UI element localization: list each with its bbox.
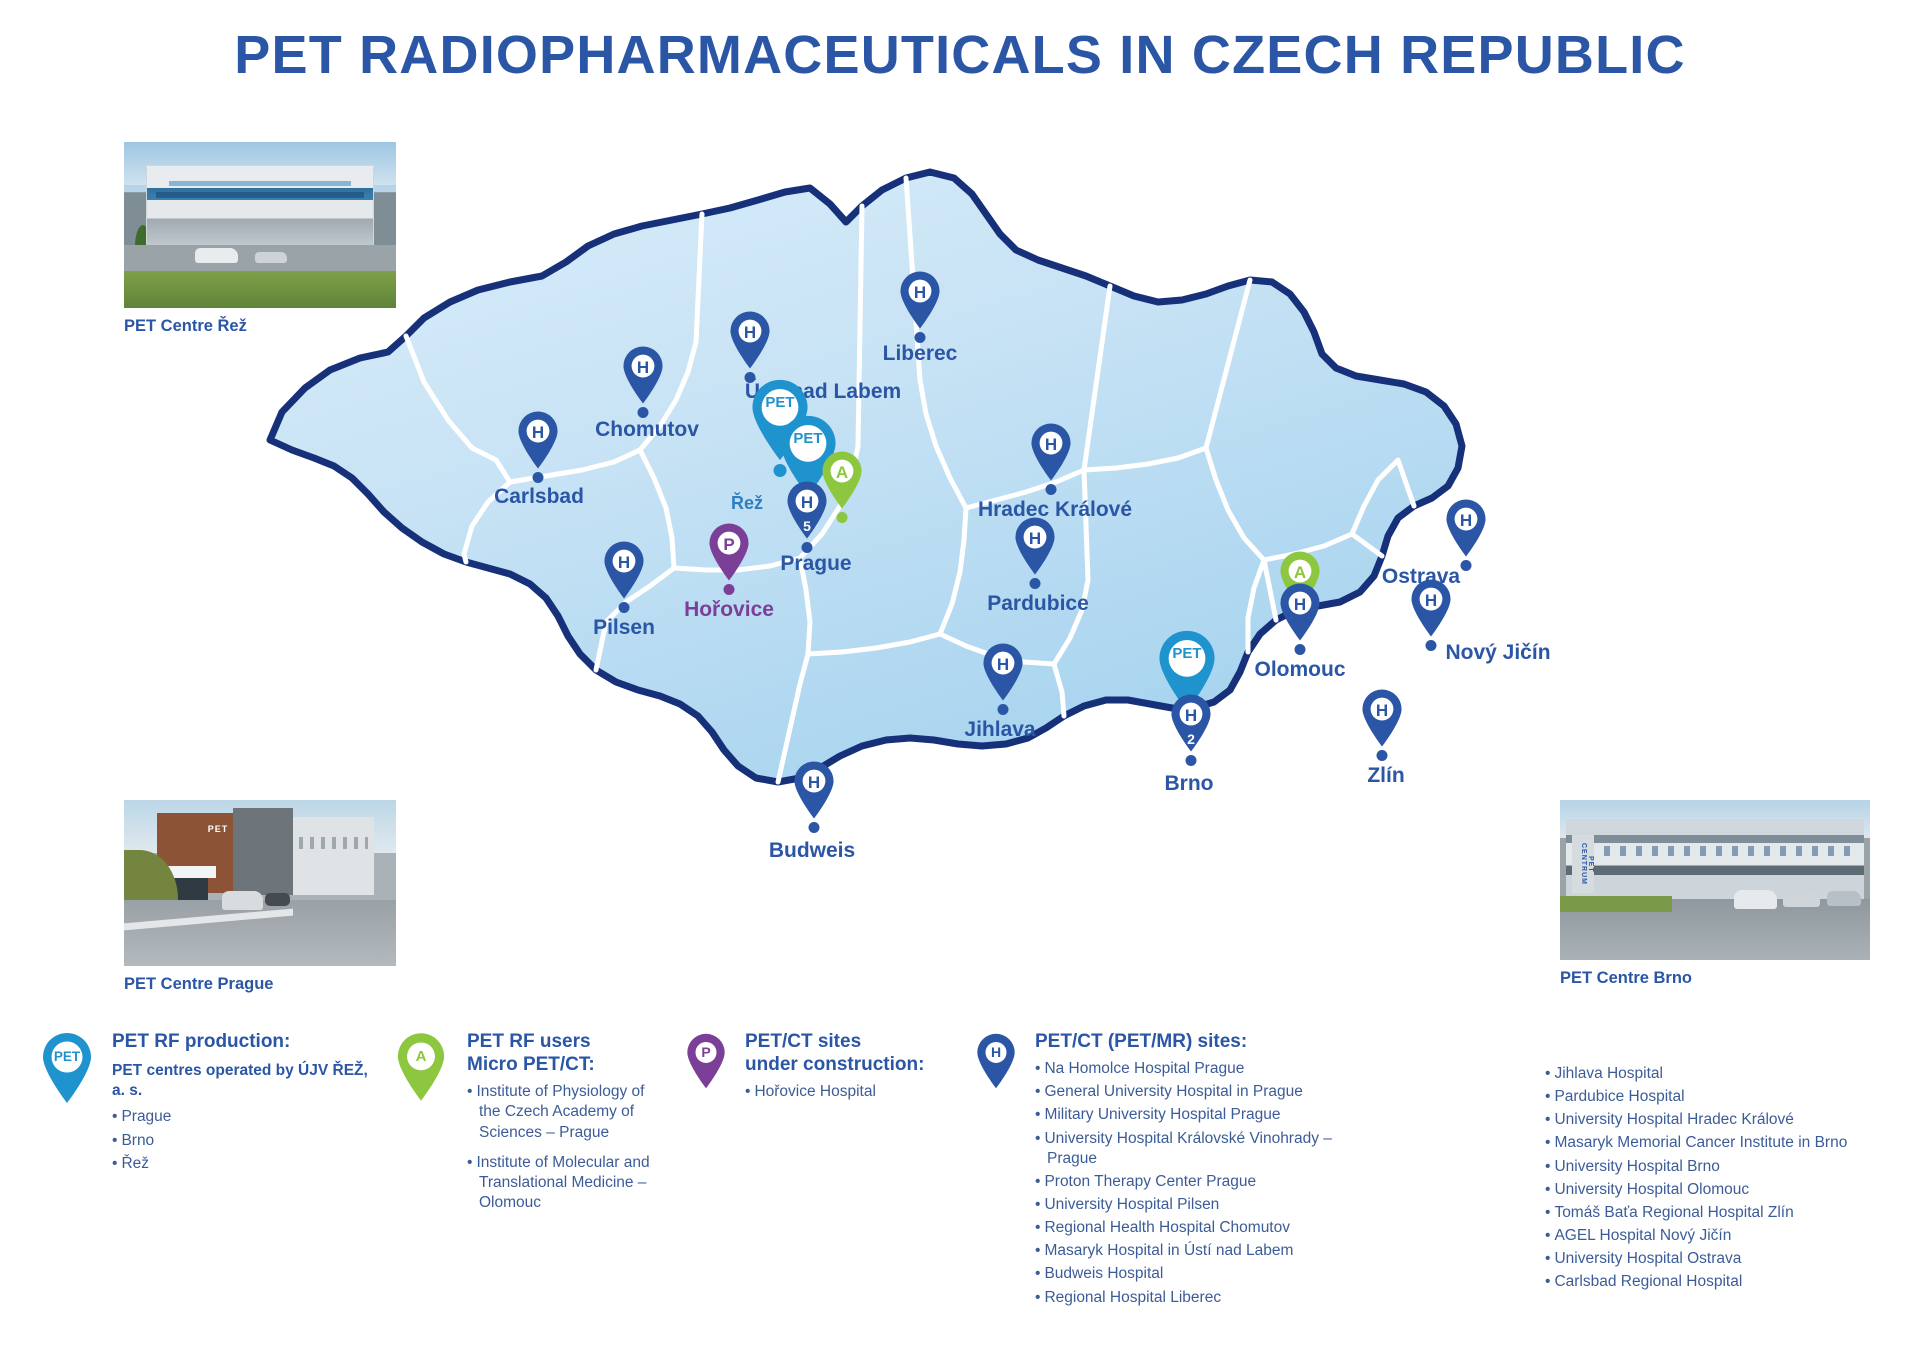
- list-item-label: Hořovice Hospital: [754, 1083, 875, 1100]
- list-item: •Jihlava Hospital: [1545, 1064, 1875, 1084]
- list-item: •General University Hospital in Prague: [1035, 1082, 1365, 1102]
- list-item-label: University Hospital Hradec Králové: [1554, 1111, 1793, 1128]
- city-label-pilsen: Pilsen: [593, 616, 655, 640]
- legend-pin-p: P: [685, 1032, 727, 1095]
- map-marker-h-icon[interactable]: H: [516, 410, 560, 470]
- list-item-label: Proton Therapy Center Prague: [1044, 1173, 1256, 1190]
- legend-pin-h-label: H: [975, 1044, 1017, 1060]
- legend-construction-list: •Hořovice Hospital: [745, 1082, 975, 1102]
- list-item-label: Institute of Molecular and Translational…: [476, 1154, 649, 1211]
- list-item-label: Military University Hospital Prague: [1044, 1106, 1280, 1123]
- legend-pin-a-label: A: [395, 1048, 447, 1065]
- legend-pin-pet-label: PET: [40, 1049, 94, 1064]
- list-item-label: Řež: [121, 1155, 149, 1172]
- list-item-label: Carlsbad Regional Hospital: [1554, 1273, 1742, 1290]
- map-marker-h-icon[interactable]: H: [1444, 498, 1488, 558]
- map-marker-h-icon[interactable]: H2: [1169, 693, 1213, 753]
- list-item: •University Hospital Brno: [1545, 1157, 1875, 1177]
- map-marker-dot: [802, 542, 813, 553]
- map-marker-dot: [1295, 644, 1306, 655]
- legend-micro-list: •Institute of Physiology of the Czech Ac…: [467, 1082, 685, 1213]
- list-item: •Proton Therapy Center Prague: [1035, 1172, 1365, 1192]
- legend-pin-pet: PET: [40, 1032, 94, 1109]
- legend-micro-title-2: Micro PET/CT:: [467, 1053, 685, 1076]
- city-label-olomouc: Olomouc: [1254, 658, 1345, 682]
- legend-sites-list-1: •Na Homolce Hospital Prague•General Univ…: [1035, 1059, 1535, 1308]
- city-label-brno: Brno: [1165, 772, 1214, 796]
- list-item: •Military University Hospital Prague: [1035, 1105, 1365, 1125]
- map-marker-h-icon[interactable]: H: [602, 540, 646, 600]
- map-marker-h-icon[interactable]: H: [981, 642, 1025, 702]
- page-title: PET RADIOPHARMACEUTICALS IN CZECH REPUBL…: [0, 24, 1920, 86]
- legend-production-subtitle: PET centres operated by ÚJV ŘEŽ, a. s.: [112, 1061, 370, 1101]
- map-marker-h-icon[interactable]: H: [728, 310, 772, 370]
- list-item-label: Masaryk Memorial Cancer Institute in Brn…: [1554, 1134, 1847, 1151]
- list-item-label: Brno: [121, 1132, 154, 1149]
- list-item-label: University Hospital Pilsen: [1044, 1196, 1219, 1213]
- list-item: •Brno: [112, 1131, 370, 1151]
- list-item: •University Hospital Hradec Králové: [1545, 1110, 1875, 1130]
- map-marker-dot: [1461, 560, 1472, 571]
- map-marker-dot: [1186, 755, 1197, 766]
- photo-caption-prague: PET Centre Prague: [124, 975, 396, 994]
- map-marker-h-icon[interactable]: H: [792, 760, 836, 820]
- legend-pin-a: A: [395, 1032, 447, 1107]
- map-marker-h-icon[interactable]: H: [1013, 516, 1057, 576]
- map-marker-dot: [998, 704, 1009, 715]
- map-marker-h-icon[interactable]: H: [1360, 688, 1404, 748]
- map-marker-dot: [638, 407, 649, 418]
- list-item: •Prague: [112, 1107, 370, 1127]
- map-marker-dot: [533, 472, 544, 483]
- legend-micro-title-1: PET RF users: [467, 1030, 685, 1053]
- map-marker-p-icon[interactable]: P: [707, 522, 751, 582]
- map-marker-dot: [619, 602, 630, 613]
- legend-sites-title: PET/CT (PET/MR) sites:: [1035, 1030, 1535, 1053]
- legend-production: PET PET RF production: PET centres opera…: [40, 1030, 370, 1177]
- list-item: •University Hospital Pilsen: [1035, 1195, 1365, 1215]
- list-item: •University Hospital Ostrava: [1545, 1249, 1875, 1269]
- map-marker-dot: [809, 822, 820, 833]
- map-marker-dot: [1426, 640, 1437, 651]
- legend-micro-petct: A PET RF users Micro PET/CT: •Institute …: [395, 1030, 685, 1216]
- map-marker-dot: [915, 332, 926, 343]
- map-outline: [270, 172, 1462, 782]
- list-item: •Na Homolce Hospital Prague: [1035, 1059, 1365, 1079]
- list-item-label: Tomáš Baťa Regional Hospital Zlín: [1554, 1204, 1793, 1221]
- city-label-horovice: Hořovice: [684, 598, 774, 622]
- list-item-label: Pardubice Hospital: [1554, 1088, 1684, 1105]
- list-item-label: Budweis Hospital: [1044, 1265, 1163, 1282]
- city-label-jihlava: Jihlava: [964, 718, 1035, 742]
- legend-sites-list-2: •Jihlava Hospital•Pardubice Hospital•Uni…: [1545, 1064, 1920, 1292]
- list-item: •Pardubice Hospital: [1545, 1087, 1875, 1107]
- list-item-label: Prague: [121, 1108, 171, 1125]
- map-marker-h-icon[interactable]: H: [1278, 582, 1322, 642]
- map-marker-dot: [837, 512, 848, 523]
- city-label-novy-jicin: Nový Jičín: [1445, 641, 1550, 665]
- list-item: •Masaryk Hospital in Ústí nad Labem: [1035, 1241, 1365, 1261]
- list-item-label: Regional Hospital Liberec: [1044, 1289, 1221, 1306]
- list-item: •Institute of Physiology of the Czech Ac…: [467, 1082, 667, 1142]
- list-item-label: Jihlava Hospital: [1554, 1065, 1663, 1082]
- map-marker-dot: [1030, 578, 1041, 589]
- list-item: •AGEL Hospital Nový Jičín: [1545, 1226, 1875, 1246]
- list-item: •Řež: [112, 1154, 370, 1174]
- map-marker-h-icon[interactable]: H: [1029, 422, 1073, 482]
- city-label-chomutov: Chomutov: [595, 418, 699, 442]
- list-item-label: University Hospital Olomouc: [1554, 1181, 1749, 1198]
- city-label-zlin: Zlín: [1367, 764, 1404, 788]
- list-item-label: General University Hospital in Prague: [1044, 1083, 1302, 1100]
- list-item: •Masaryk Memorial Cancer Institute in Br…: [1545, 1133, 1875, 1153]
- list-item-label: Regional Health Hospital Chomutov: [1044, 1219, 1290, 1236]
- photo-caption-brno: PET Centre Brno: [1560, 969, 1870, 988]
- list-item: •Tomáš Baťa Regional Hospital Zlín: [1545, 1203, 1875, 1223]
- list-item: •Carlsbad Regional Hospital: [1545, 1272, 1875, 1292]
- list-item: •University Hospital Olomouc: [1545, 1180, 1875, 1200]
- list-item-label: Masaryk Hospital in Ústí nad Labem: [1044, 1242, 1293, 1259]
- list-item-label: University Hospital Královské Vinohrady …: [1044, 1130, 1331, 1167]
- list-item-label: University Hospital Brno: [1554, 1158, 1719, 1175]
- map-marker-h-icon[interactable]: H: [621, 345, 665, 405]
- city-label-rez: Řež: [731, 493, 763, 514]
- infographic-root: PET RADIOPHARMACEUTICALS IN CZECH REPUBL…: [0, 0, 1920, 1358]
- legend-under-construction: P PET/CT sites under construction: •Hořo…: [685, 1030, 975, 1105]
- map-marker-h-icon[interactable]: H: [1409, 578, 1453, 638]
- list-item-label: Institute of Physiology of the Czech Aca…: [476, 1083, 644, 1140]
- legend-pin-p-label: P: [685, 1044, 727, 1060]
- list-item: •University Hospital Královské Vinohrady…: [1035, 1129, 1365, 1169]
- list-item: •Regional Hospital Liberec: [1035, 1288, 1365, 1308]
- legend: PET PET RF production: PET centres opera…: [40, 1030, 1900, 1350]
- legend-construction-title-1: PET/CT sites: [745, 1030, 975, 1053]
- map-marker-h-icon[interactable]: H5: [785, 480, 829, 540]
- list-item-label: University Hospital Ostrava: [1554, 1250, 1741, 1267]
- legend-petct-sites-col2: •Jihlava Hospital•Pardubice Hospital•Uni…: [1545, 1058, 1920, 1295]
- list-item: •Budweis Hospital: [1035, 1264, 1365, 1284]
- legend-production-list: •Prague •Brno •Řež: [112, 1107, 370, 1173]
- city-label-carlsbad: Carlsbad: [494, 485, 584, 509]
- city-label-pardubice: Pardubice: [987, 592, 1089, 616]
- list-item: •Institute of Molecular and Translationa…: [467, 1153, 685, 1213]
- czech-republic-map[interactable]: Liberec Ústí nad Labem Chomutov Carlsbad…: [210, 130, 1610, 830]
- city-label-budweis: Budweis: [769, 839, 855, 863]
- legend-construction-title-2: under construction:: [745, 1053, 975, 1076]
- legend-production-title: PET RF production:: [112, 1030, 370, 1053]
- list-item-label: Na Homolce Hospital Prague: [1044, 1060, 1244, 1077]
- city-label-liberec: Liberec: [883, 342, 958, 366]
- legend-pin-h: H: [975, 1032, 1017, 1095]
- list-item: •Regional Health Hospital Chomutov: [1035, 1218, 1365, 1238]
- map-marker-h-icon[interactable]: H: [898, 270, 942, 330]
- city-label-prague: Prague: [780, 552, 851, 576]
- map-marker-dot: [724, 584, 735, 595]
- map-marker-dot: [1377, 750, 1388, 761]
- list-item: •Hořovice Hospital: [745, 1082, 975, 1102]
- legend-petct-sites: H PET/CT (PET/MR) sites: •Na Homolce Hos…: [975, 1030, 1535, 1311]
- map-marker-dot: [1046, 484, 1057, 495]
- list-item-label: AGEL Hospital Nový Jičín: [1554, 1227, 1731, 1244]
